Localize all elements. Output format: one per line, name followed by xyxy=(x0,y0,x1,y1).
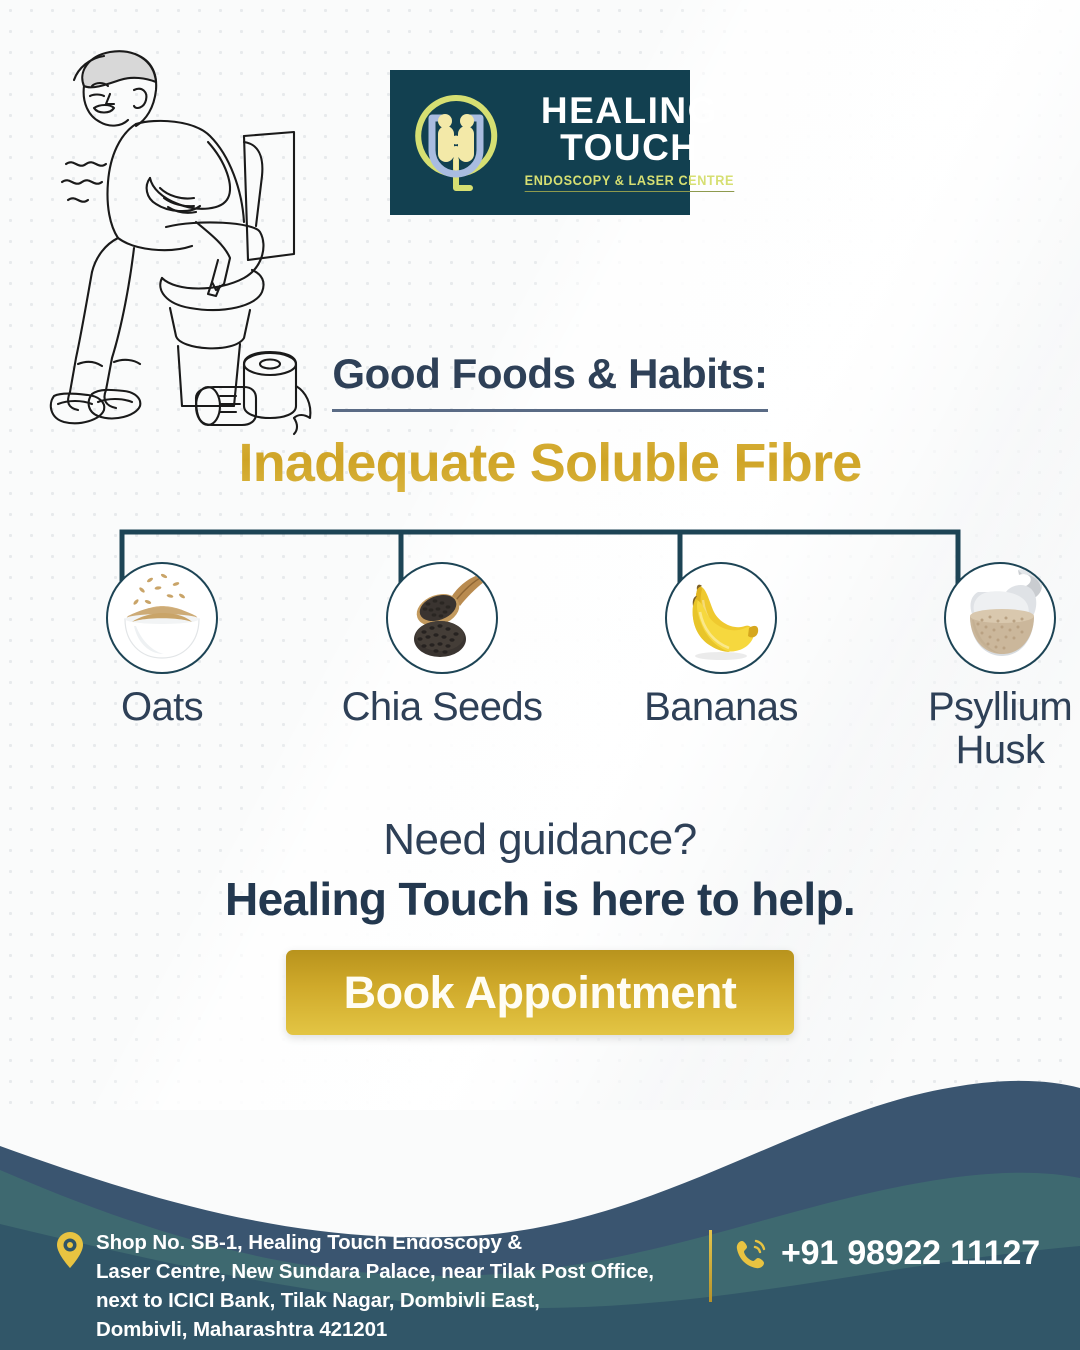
food-item-psyllium-husk[interactable]: Psyllium Husk xyxy=(885,562,1080,772)
logo-line-2: TOUCH xyxy=(560,130,698,166)
phone-block[interactable]: +91 98922 11127 xyxy=(734,1234,1040,1273)
food-item-oats[interactable]: Oats xyxy=(47,562,277,729)
oats-bowl-icon xyxy=(110,566,214,670)
map-pin-icon xyxy=(56,1231,84,1269)
psyllium-husk-scoop-icon xyxy=(948,566,1052,670)
food-circle-oats xyxy=(106,562,218,674)
healing-touch-logo-icon xyxy=(408,88,504,198)
address-line: Laser Centre, New Sundara Palace, near T… xyxy=(96,1257,654,1286)
section-kicker: Good Foods & Habits: xyxy=(332,350,767,412)
food-item-chia-seeds[interactable]: Chia Seeds xyxy=(327,562,557,729)
footer-bar: Shop No. SB-1, Healing Touch Endoscopy &… xyxy=(0,1210,1080,1350)
logo-line-1: HEALING xyxy=(541,93,718,129)
address-line: Dombivli, Maharashtra 421201 xyxy=(96,1315,654,1344)
cta-line-2: Healing Touch is here to help. xyxy=(0,872,1080,926)
food-circle-psyllium-husk xyxy=(944,562,1056,674)
phone-number: +91 98922 11127 xyxy=(781,1234,1040,1273)
book-appointment-button[interactable]: Book Appointment xyxy=(286,950,794,1035)
logo-tagline: ENDOSCOPY & LASER CENTRE xyxy=(525,173,734,192)
page-title: Inadequate Soluble Fibre xyxy=(140,432,960,494)
food-circle-bananas xyxy=(665,562,777,674)
address-block: Shop No. SB-1, Healing Touch Endoscopy &… xyxy=(56,1228,701,1344)
address-text: Shop No. SB-1, Healing Touch Endoscopy &… xyxy=(96,1228,654,1344)
poster-canvas: HEALING TOUCH ENDOSCOPY & LASER CENTRE G… xyxy=(0,0,1080,1350)
logo-wordmark: HEALING TOUCH ENDOSCOPY & LASER CENTRE xyxy=(518,93,741,192)
food-circle-chia-seeds xyxy=(386,562,498,674)
food-items-row: Oats xyxy=(40,562,1040,802)
cta-line-1: Need guidance? xyxy=(0,815,1080,865)
food-label: Bananas xyxy=(606,686,836,729)
food-label: Chia Seeds xyxy=(327,686,557,729)
footer-divider xyxy=(709,1230,712,1302)
address-line: next to ICICI Bank, Tilak Nagar, Dombivl… xyxy=(96,1286,654,1315)
brand-logo: HEALING TOUCH ENDOSCOPY & LASER CENTRE xyxy=(390,70,690,215)
food-label: Psyllium Husk xyxy=(885,686,1080,772)
kicker-wrapper: Good Foods & Habits: xyxy=(200,350,900,412)
phone-ringing-icon xyxy=(734,1237,768,1271)
chia-seeds-icon xyxy=(390,566,494,670)
bananas-icon xyxy=(669,566,773,670)
food-item-bananas[interactable]: Bananas xyxy=(606,562,836,729)
address-line: Shop No. SB-1, Healing Touch Endoscopy & xyxy=(96,1228,654,1257)
food-label: Oats xyxy=(47,686,277,729)
